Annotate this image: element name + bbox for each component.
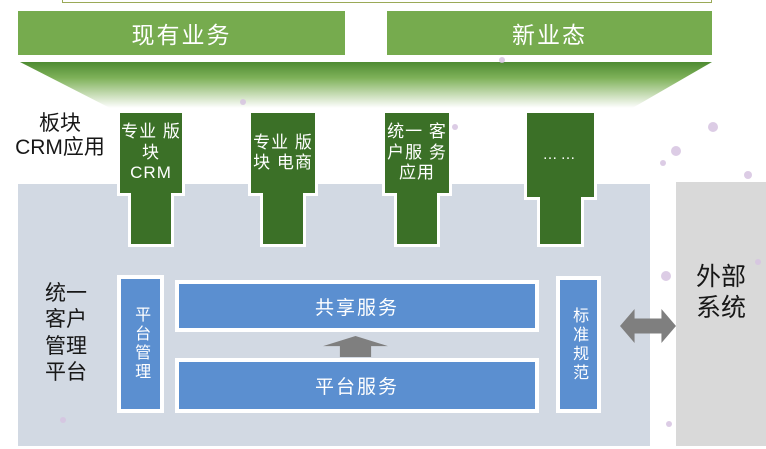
application-sector-crm-stem — [128, 193, 174, 247]
block-platform-services[interactable]: 平台服务 — [175, 358, 539, 413]
decorative-dot — [755, 259, 761, 265]
top-border-strip — [62, 0, 712, 3]
decorative-dot — [660, 160, 666, 166]
block-shared-services-label: 共享服务 — [315, 293, 399, 320]
block-shared-services[interactable]: 共享服务 — [175, 280, 539, 332]
business-bar-new[interactable]: 新业态 — [387, 11, 712, 55]
application-unified-customer-service-label: 统一 客户服 务应用 — [382, 110, 452, 196]
block-platform-management[interactable]: 平台管理 — [117, 275, 164, 413]
block-standards-and-norms[interactable]: 标准规范 — [556, 276, 601, 413]
application-sector-crm[interactable]: 专业 版块 CRM — [117, 110, 185, 247]
application-more[interactable]: …… — [524, 110, 597, 247]
decorative-dot — [240, 99, 246, 105]
external-system-label: 外部系统 — [690, 262, 752, 323]
application-sector-ecommerce-stem — [260, 193, 306, 247]
decorative-dot — [744, 171, 752, 179]
ellipsis-icon: …… — [543, 146, 579, 164]
application-more-label: …… — [524, 110, 597, 200]
diagram-canvas: 现有业务 新业态 板块 CRM应用 统一 客户 管理 平台 专业 版块 CRM … — [0, 0, 766, 449]
decorative-dot — [671, 146, 681, 156]
decorative-dot — [666, 421, 672, 427]
section-label-platform: 统一 客户 管理 平台 — [30, 281, 102, 386]
decorative-dot — [661, 271, 671, 281]
application-sector-ecommerce[interactable]: 专业 版块 电商 — [248, 110, 318, 247]
application-unified-customer-service-stem — [394, 193, 440, 247]
decorative-dot — [60, 417, 66, 423]
application-sector-crm-label: 专业 版块 CRM — [117, 110, 185, 196]
application-unified-customer-service[interactable]: 统一 客户服 务应用 — [382, 110, 452, 247]
business-bar-existing-label: 现有业务 — [132, 16, 232, 50]
section-label-applications: 板块 CRM应用 — [8, 112, 112, 159]
decorative-dot — [452, 124, 458, 130]
decorative-dot — [708, 122, 718, 132]
business-bar-existing[interactable]: 现有业务 — [18, 11, 345, 55]
block-standards-and-norms-label: 标准规范 — [567, 307, 590, 383]
application-sector-ecommerce-label: 专业 版块 电商 — [248, 110, 318, 196]
block-platform-management-label: 平台管理 — [129, 306, 152, 382]
funnel-shape — [20, 62, 712, 108]
application-more-stem — [537, 197, 584, 247]
block-platform-services-label: 平台服务 — [315, 372, 399, 399]
business-bar-new-label: 新业态 — [512, 16, 587, 50]
decorative-dot — [499, 57, 505, 63]
